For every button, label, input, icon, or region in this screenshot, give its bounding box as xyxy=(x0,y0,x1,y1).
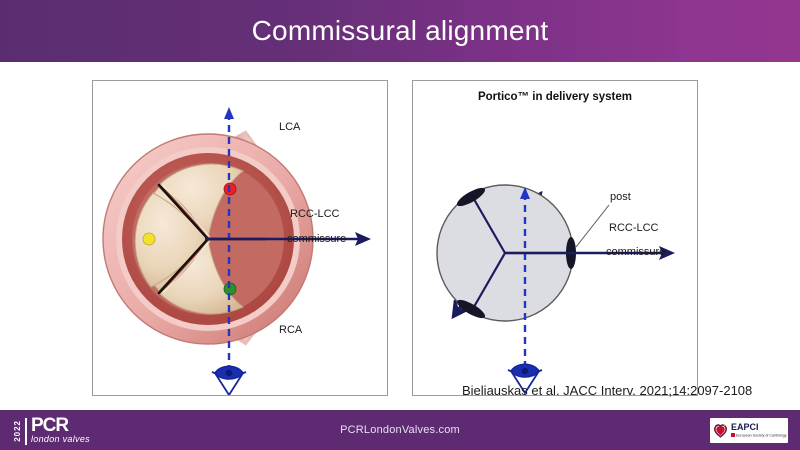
footer-url: PCRLondonValves.com xyxy=(340,424,460,436)
rcc-lcc-arrow-label-line1: RCC-LCC xyxy=(609,222,659,234)
slide-header: Commissural alignment xyxy=(0,0,800,62)
rca-label: RCA xyxy=(279,324,302,336)
lca-label: LCA xyxy=(279,121,300,133)
eapci-logo: EAPCI European Society of Cardiology xyxy=(710,418,788,443)
post-leader-line xyxy=(576,205,609,247)
portico-panel-title: Portico™ in delivery system xyxy=(413,91,697,103)
viewpoint-eye-icon xyxy=(212,366,246,395)
eapci-subtitle: European Society of Cardiology xyxy=(731,433,787,438)
ncc-marker-dot xyxy=(143,233,155,245)
portico-illustration xyxy=(413,81,697,395)
rcc-lcc-arrow-label-line1: RCC-LCC xyxy=(290,208,340,220)
slide-footer: 2022 PCR london valves PCRLondonValves.c… xyxy=(0,410,800,450)
portico-panel: Portico™ in delivery system xyxy=(412,80,698,396)
post-label: post xyxy=(610,191,631,203)
native-valve-panel: LCA RCA RCC-LCC commissure xyxy=(92,80,388,396)
rcc-lcc-arrow-label-line2: commissure xyxy=(287,233,346,245)
citation-text: Bieliauskas et al. JACC Interv. 2021;14:… xyxy=(462,383,792,398)
footer-url-wrapper: PCRLondonValves.com xyxy=(0,410,800,450)
rcc-lcc-arrow-label-line2: commissure xyxy=(606,246,665,258)
heart-icon xyxy=(713,423,728,438)
eapci-name: EAPCI xyxy=(731,423,787,432)
page-title: Commissural alignment xyxy=(252,15,549,47)
header-divider xyxy=(0,62,800,65)
